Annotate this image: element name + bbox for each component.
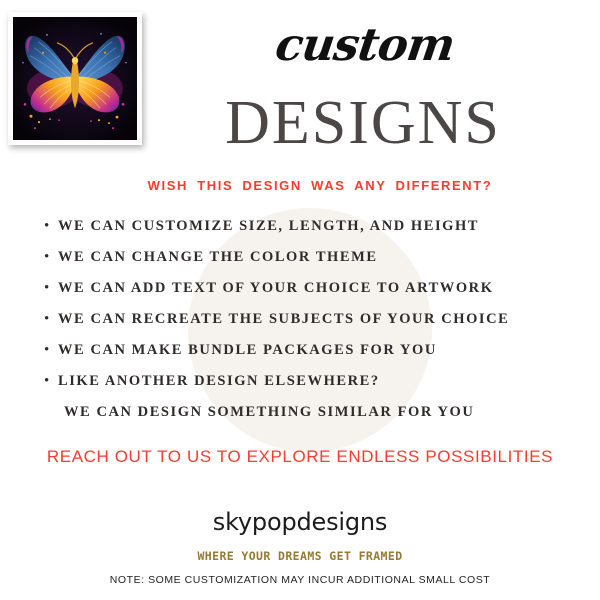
call-to-action-text: REACH OUT TO US TO EXPLORE ENDLESS POSSI… <box>10 447 590 467</box>
list-item-label: WE CAN RECREATE THE SUBJECTS OF YOUR CHO… <box>58 311 509 328</box>
list-item: • WE CAN CUSTOMIZE SIZE, LENGTH, AND HEI… <box>44 218 574 249</box>
bullet-dot-icon: • <box>44 281 58 296</box>
bullet-dot-icon: • <box>44 312 58 327</box>
list-item: • WE CAN MAKE BUNDLE PACKAGES FOR YOU <box>44 342 574 373</box>
bullet-dot-icon: • <box>44 219 58 234</box>
list-item-continuation: WE CAN DESIGN SOMETHING SIMILAR FOR YOU <box>44 404 574 438</box>
brand-tagline: WHERE YOUR DREAMS GET FRAMED <box>0 549 600 563</box>
list-item-label: WE CAN CHANGE THE COLOR THEME <box>58 249 378 266</box>
artwork-canvas <box>13 17 137 140</box>
footer-note: NOTE: SOME CUSTOMIZATION MAY INCUR ADDIT… <box>0 574 600 586</box>
bullet-dot-icon: • <box>44 250 58 265</box>
main-heading-designs: DESIGNS <box>148 92 578 154</box>
subtitle-wish-different: WISH THIS DESIGN WAS ANY DIFFERENT? <box>60 178 580 193</box>
list-item-label: WE CAN MAKE BUNDLE PACKAGES FOR YOU <box>58 342 437 359</box>
brand-name: skypopdesigns <box>0 508 600 536</box>
list-item: • WE CAN ADD TEXT OF YOUR CHOICE TO ARTW… <box>44 280 574 311</box>
script-heading-custom: custom <box>152 22 578 67</box>
list-item: • WE CAN CHANGE THE COLOR THEME <box>44 249 574 280</box>
list-item-label: WE CAN CUSTOMIZE SIZE, LENGTH, AND HEIGH… <box>58 218 479 235</box>
bullet-dot-icon: • <box>44 343 58 358</box>
list-item-label: WE CAN ADD TEXT OF YOUR CHOICE TO ARTWOR… <box>58 280 494 297</box>
list-item: • LIKE ANOTHER DESIGN ELSEWHERE? <box>44 373 574 404</box>
butterfly-icon <box>13 17 137 140</box>
list-item: • WE CAN RECREATE THE SUBJECTS OF YOUR C… <box>44 311 574 342</box>
bullet-dot-icon: • <box>44 374 58 389</box>
framed-butterfly-artwork[interactable] <box>8 12 142 145</box>
list-item-label: WE CAN DESIGN SOMETHING SIMILAR FOR YOU <box>58 404 474 421</box>
list-item-label: LIKE ANOTHER DESIGN ELSEWHERE? <box>58 373 380 390</box>
customization-options-list: • WE CAN CUSTOMIZE SIZE, LENGTH, AND HEI… <box>44 218 574 438</box>
poster-canvas: custom DESIGNS WISH THIS DESIGN WAS ANY … <box>0 0 600 600</box>
